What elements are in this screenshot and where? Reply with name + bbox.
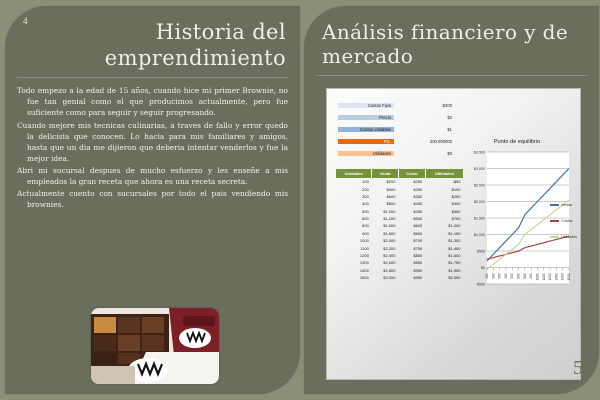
table-cell: $400: [425, 200, 463, 207]
legend-swatch: [550, 236, 559, 238]
table-cell: $850: [398, 259, 425, 266]
table-cell: $1,600: [425, 252, 463, 259]
x-axis-tick-label: 1400: [561, 273, 565, 280]
x-axis-tick-label: 1500: [567, 273, 571, 280]
y-axis-tick-label: $500: [477, 250, 485, 254]
table-cell: $2,800: [372, 267, 399, 274]
column-header: Costo: [398, 169, 425, 178]
table-cell: $200: [372, 178, 399, 185]
body-text-left: Todo empezo a la edad de 15 años, cuando…: [5, 78, 300, 210]
paragraph: Actualmente cuento con sucursales por to…: [17, 188, 288, 210]
x-axis-tick-label: 200: [491, 273, 495, 279]
table-cell: $700: [398, 237, 425, 244]
table-row: 1100$2,200$750$1,450: [336, 244, 464, 251]
table-cell: $250: [398, 178, 425, 185]
x-axis-tick-label: 900: [529, 273, 533, 279]
table-cell: 900: [336, 230, 372, 237]
parameter-value: $200: [394, 103, 458, 108]
table-cell: $2,400: [372, 252, 399, 259]
table-cell: 1300: [336, 259, 372, 266]
legend-item-costos: Costos: [550, 219, 577, 223]
table-cell: $400: [398, 200, 425, 207]
legend-item-ventas: Ventas: [550, 203, 577, 207]
y-axis-tick-label: $3,500: [474, 151, 485, 155]
parameter-row: Costos variables $1: [338, 123, 458, 135]
legend-label: Utilidades: [561, 235, 577, 239]
parameter-label: P.E.: [338, 139, 394, 144]
table-row: 1300$2,600$850$1,750: [336, 259, 464, 266]
x-axis-tick-label: 500: [510, 273, 514, 279]
parameter-row: Precio $2: [338, 111, 458, 123]
table-cell: $800: [372, 200, 399, 207]
parameter-value: $2: [394, 115, 458, 120]
spreadsheet-screenshot: Costos Fijos $200 Precio $2 Costos varia…: [326, 88, 581, 380]
column-header: Unidades: [336, 169, 372, 178]
parameter-label: Utilidades: [338, 151, 394, 156]
x-axis-tick-label: 300: [498, 273, 502, 279]
table-cell: $600: [398, 222, 425, 229]
breakeven-data-table: Unidades Venta Costo Utilidades 100$200$…: [336, 169, 464, 281]
table-cell: 500: [336, 208, 372, 215]
table-row: 100$200$250-$50: [336, 178, 464, 185]
table-row: 300$600$350$250: [336, 193, 464, 200]
page-title-left: Historia del emprendimiento: [5, 20, 300, 71]
table-cell: 400: [336, 200, 372, 207]
table-row: 1400$2,800$900$1,900: [336, 267, 464, 274]
page-title-right: Análisis financiero y de mercado: [304, 20, 599, 69]
table-cell: 100: [336, 178, 372, 185]
table-cell: $700: [425, 215, 463, 222]
table-row: 900$1,800$650$1,150: [336, 230, 464, 237]
table-cell: $3,000: [372, 274, 399, 281]
table-cell: $250: [425, 193, 463, 200]
parameter-row: Utilidades $0: [338, 147, 458, 159]
y-axis-tick-label: $2,000: [474, 200, 485, 204]
table-row: 400$800$400$400: [336, 200, 464, 207]
x-axis-tick-label: 1100: [542, 273, 546, 280]
table-cell: $1,750: [425, 259, 463, 266]
legend-label: Ventas: [561, 203, 572, 207]
table-cell: $600: [372, 193, 399, 200]
slide-number-left: 4: [23, 16, 28, 26]
slide-analisis[interactable]: Análisis financiero y de mercado Costos …: [304, 6, 599, 394]
brownies-photo: [91, 308, 219, 384]
paragraph: Cuando mejore mis tecnicas culinarias, a…: [17, 120, 288, 164]
parameter-value: $0: [394, 151, 458, 156]
chart-legend: Ventas Costos Utilidades: [550, 203, 577, 239]
table-row: 600$1,200$500$700: [336, 215, 464, 222]
table-cell: 600: [336, 215, 372, 222]
title-divider-right: [316, 75, 587, 76]
table-cell: $1,900: [425, 267, 463, 274]
table-cell: $1,450: [425, 244, 463, 251]
legend-label: Costos: [561, 219, 572, 223]
table-cell: $1,000: [372, 208, 399, 215]
legend-swatch: [550, 220, 559, 222]
slide-number-right: 5: [573, 357, 583, 380]
table-cell: $2,200: [372, 244, 399, 251]
table-cell: $450: [398, 208, 425, 215]
column-header: Venta: [372, 169, 399, 178]
table-cell: 1200: [336, 252, 372, 259]
parameters-table: Costos Fijos $200 Precio $2 Costos varia…: [338, 99, 458, 159]
legend-item-utilidades: Utilidades: [550, 235, 577, 239]
y-axis-tick-label: $1,500: [474, 217, 485, 221]
column-header: Utilidades: [425, 169, 463, 178]
brownies-photo-image: [91, 308, 219, 384]
table-cell: $1,150: [425, 230, 463, 237]
table-cell: 1000: [336, 237, 372, 244]
table-row: 500$1,000$450$550: [336, 208, 464, 215]
breakeven-chart: Punto de equilibrio $3,500$3,000$2,500$2…: [461, 139, 573, 339]
x-axis-tick-label: 1000: [535, 273, 539, 280]
table-cell: $2,600: [372, 259, 399, 266]
table-cell: $750: [398, 244, 425, 251]
table-cell: $350: [398, 193, 425, 200]
parameter-value: 200.000000: [394, 139, 458, 144]
table-body: 100$200$250-$50200$400$300$100300$600$35…: [336, 178, 464, 281]
y-axis-tick-label: $3,000: [474, 167, 485, 171]
x-axis-tick-label: 1200: [548, 273, 552, 280]
parameter-row: P.E. 200.000000: [338, 135, 458, 147]
table-cell: 300: [336, 193, 372, 200]
chart-title: Punto de equilibrio: [461, 139, 573, 145]
table-cell: $400: [372, 185, 399, 192]
table-cell: $1,300: [425, 237, 463, 244]
paragraph: Todo empezo a la edad de 15 años, cuando…: [17, 85, 288, 118]
x-axis-tick-label: 600: [517, 273, 521, 279]
table-cell: $1,200: [372, 215, 399, 222]
table-row: 200$400$300$100: [336, 185, 464, 192]
table-cell: 800: [336, 222, 372, 229]
table-cell: $2,000: [372, 237, 399, 244]
table-cell: $800: [398, 252, 425, 259]
x-axis-tick-label: 1300: [554, 273, 558, 280]
table-row: 800$1,600$600$1,000: [336, 222, 464, 229]
x-axis-tick-label: 800: [523, 273, 527, 279]
y-axis-tick-label: $1,000: [474, 233, 485, 237]
table-cell: $300: [398, 185, 425, 192]
table-cell: $2,050: [425, 274, 463, 281]
table-cell: $950: [398, 274, 425, 281]
table-cell: $650: [398, 230, 425, 237]
parameter-value: $1: [394, 127, 458, 132]
table-row: 1000$2,000$700$1,300: [336, 237, 464, 244]
slide-deck: 4 Historia del emprendimiento Todo empez…: [0, 0, 600, 400]
y-axis-tick-label: $0: [481, 266, 485, 270]
parameter-label: Costos Fijos: [338, 103, 394, 108]
parameter-label: Costos variables: [338, 127, 394, 132]
table-row: 1200$2,400$800$1,600: [336, 252, 464, 259]
table-cell: 1100: [336, 244, 372, 251]
table-cell: $1,000: [425, 222, 463, 229]
table-cell: $100: [425, 185, 463, 192]
table-cell: -$50: [425, 178, 463, 185]
x-axis-tick-label: 100: [485, 273, 489, 279]
table-cell: 1400: [336, 267, 372, 274]
table-cell: 1500: [336, 274, 372, 281]
table-cell: $550: [425, 208, 463, 215]
y-axis-tick-label: $2,500: [474, 184, 485, 188]
y-axis-tick-label: -$500: [476, 283, 485, 287]
x-axis-tick-label: 400: [504, 273, 508, 279]
table-row: 1500$3,000$950$2,050: [336, 274, 464, 281]
table-cell: $1,800: [372, 230, 399, 237]
parameter-row: Costos Fijos $200: [338, 99, 458, 111]
table-cell: $500: [398, 215, 425, 222]
table-cell: $900: [398, 267, 425, 274]
table-cell: 200: [336, 185, 372, 192]
slide-historia[interactable]: 4 Historia del emprendimiento Todo empez…: [5, 6, 300, 394]
table-header-row: Unidades Venta Costo Utilidades: [336, 169, 464, 178]
table-cell: $1,600: [372, 222, 399, 229]
legend-swatch: [550, 204, 559, 206]
parameter-label: Precio: [338, 115, 394, 120]
paragraph: Abri mi sucursal despues de mucho esfuer…: [17, 165, 288, 187]
